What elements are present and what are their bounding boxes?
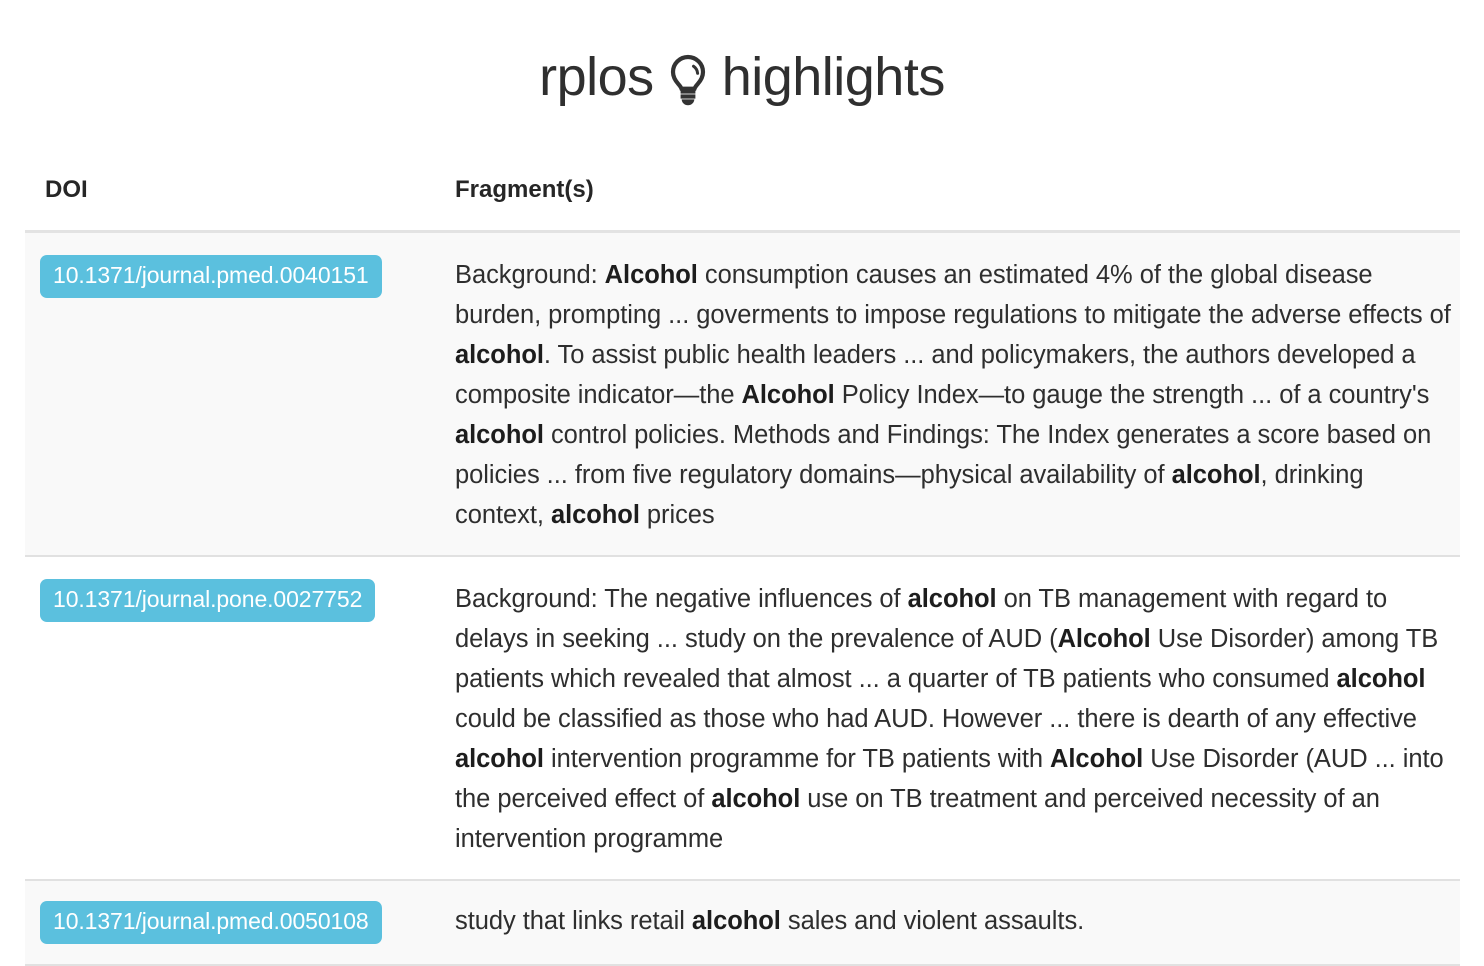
fragment-cell: Background: Alcohol consumption causes a… xyxy=(440,231,1460,556)
highlight-term: Alcohol xyxy=(1050,745,1143,773)
column-header-doi: DOI xyxy=(25,152,440,232)
doi-badge[interactable]: 10.1371/journal.pone.0027752 xyxy=(40,579,375,622)
doi-cell: 10.1371/journal.pone.0027752 xyxy=(25,556,440,880)
fragment-cell: Background: The negative influences of a… xyxy=(440,556,1460,880)
highlight-term: alcohol xyxy=(908,585,997,613)
highlight-term: Alcohol xyxy=(742,381,835,409)
fragment-segment: intervention programme for TB patients w… xyxy=(544,745,1050,773)
fragment-text: Background: Alcohol consumption causes a… xyxy=(455,255,1452,535)
fragment-segment: could be classified as those who had AUD… xyxy=(455,705,1417,733)
highlight-term: alcohol xyxy=(551,501,640,529)
table-body: 10.1371/journal.pmed.0040151Background: … xyxy=(25,231,1460,965)
highlight-term: alcohol xyxy=(711,785,800,813)
highlight-term: alcohol xyxy=(455,745,544,773)
fragment-text: Background: The negative influences of a… xyxy=(455,579,1452,859)
highlight-term: Alcohol xyxy=(1058,625,1151,653)
fragment-segment: study that links retail xyxy=(455,907,692,935)
doi-cell: 10.1371/journal.pmed.0050108 xyxy=(25,880,440,965)
fragment-segment: Background: The negative influences of xyxy=(455,585,908,613)
table-header-row: DOI Fragment(s) xyxy=(25,152,1460,232)
highlight-term: alcohol xyxy=(455,421,544,449)
fragment-cell: study that links retail alcohol sales an… xyxy=(440,880,1460,965)
fragment-segment: Background: xyxy=(455,261,605,289)
fragment-segment: prices xyxy=(640,501,715,529)
highlight-term: alcohol xyxy=(1172,461,1261,489)
page-title: rplos highlights xyxy=(539,44,945,112)
highlights-table: DOI Fragment(s) 10.1371/journal.pmed.004… xyxy=(25,152,1460,966)
doi-badge[interactable]: 10.1371/journal.pmed.0050108 xyxy=(40,901,382,944)
column-header-fragment: Fragment(s) xyxy=(440,152,1460,232)
table-row: 10.1371/journal.pone.0027752Background: … xyxy=(25,556,1460,880)
table-header: DOI Fragment(s) xyxy=(25,152,1460,232)
doi-badge[interactable]: 10.1371/journal.pmed.0040151 xyxy=(40,255,382,298)
highlight-term: alcohol xyxy=(1337,665,1426,693)
highlight-term: alcohol xyxy=(692,907,781,935)
fragment-segment: sales and violent assaults. xyxy=(781,907,1084,935)
table-row: 10.1371/journal.pmed.0040151Background: … xyxy=(25,231,1460,556)
page-header: rplos highlights xyxy=(0,0,1484,152)
table-row: 10.1371/journal.pmed.0050108study that l… xyxy=(25,880,1460,965)
highlight-term: alcohol xyxy=(455,341,544,369)
page-root: rplos highlights DOI F xyxy=(0,0,1484,928)
page-title-suffix: highlights xyxy=(722,44,945,112)
lightbulb-icon xyxy=(668,54,708,106)
highlights-table-wrapper: DOI Fragment(s) 10.1371/journal.pmed.004… xyxy=(0,152,1484,966)
page-title-prefix: rplos xyxy=(539,44,654,112)
fragment-segment: Policy Index—to gauge the strength ... o… xyxy=(835,381,1430,409)
highlight-term: Alcohol xyxy=(605,261,698,289)
fragment-text: study that links retail alcohol sales an… xyxy=(455,901,1452,941)
doi-cell: 10.1371/journal.pmed.0040151 xyxy=(25,231,440,556)
